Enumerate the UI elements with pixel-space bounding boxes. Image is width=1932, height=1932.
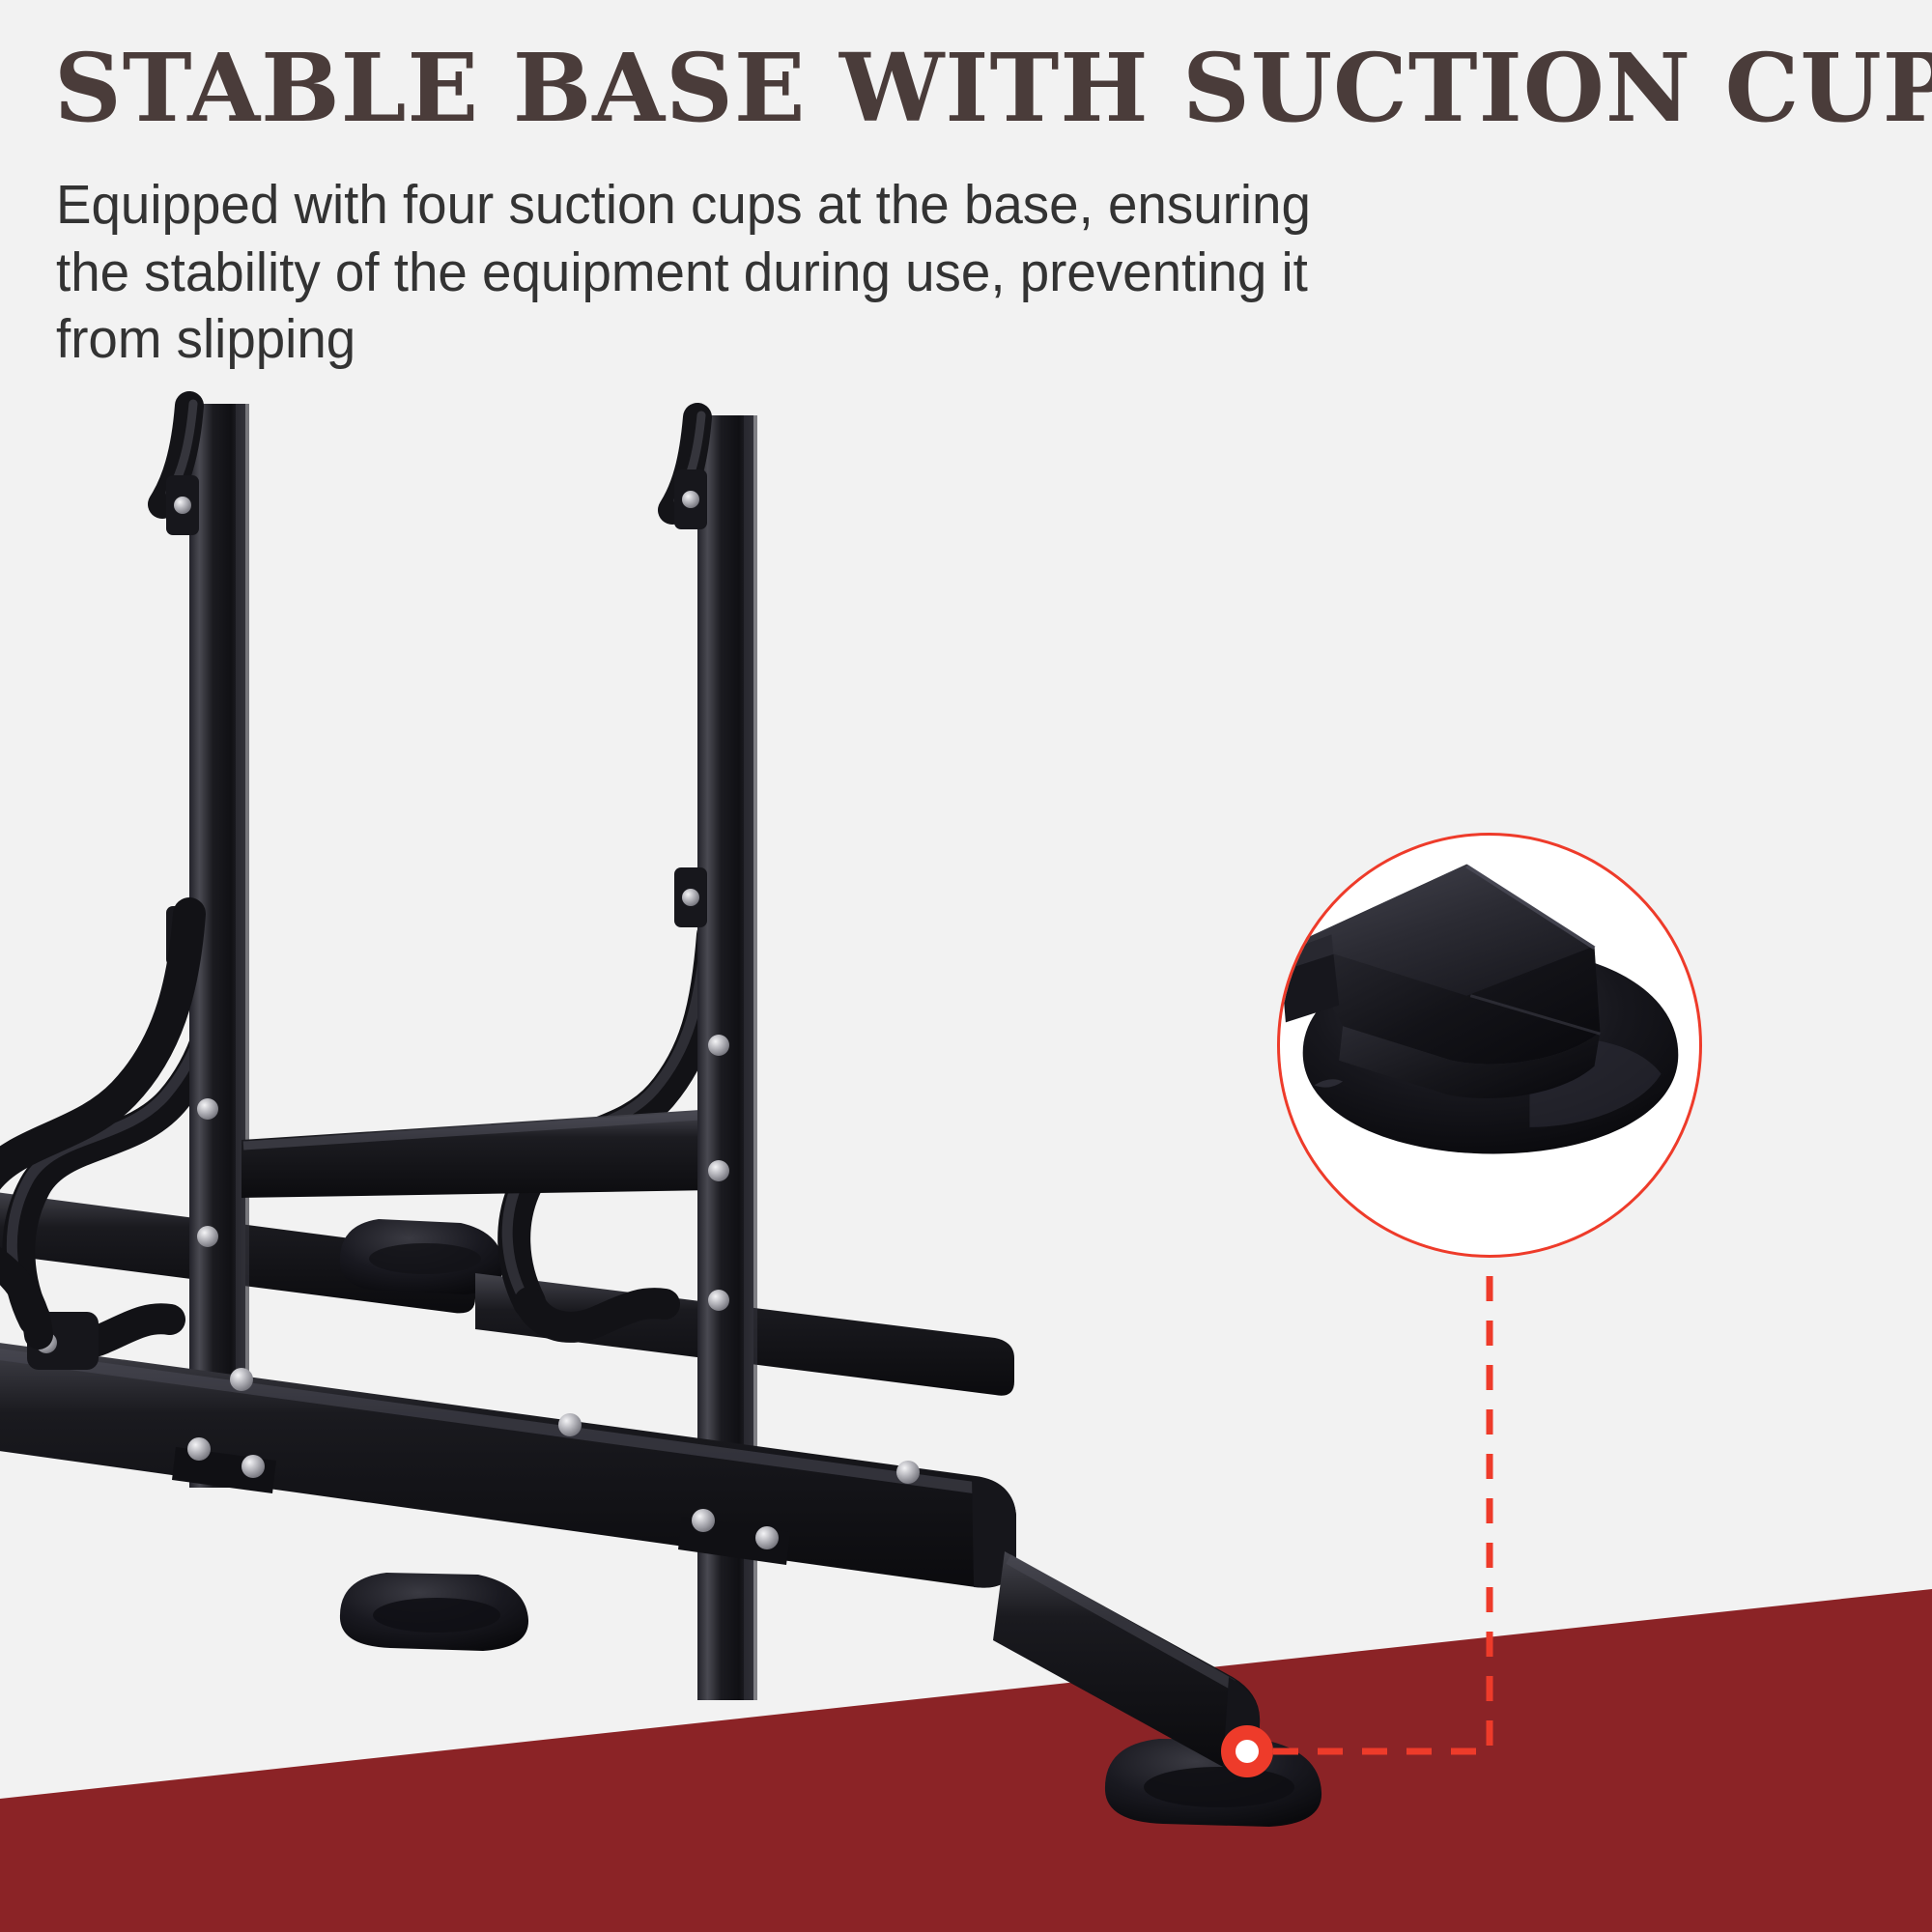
page-description: Equipped with four suction cups at the b… bbox=[56, 172, 1373, 374]
bolt bbox=[692, 1509, 715, 1532]
suction-cup-closeup-art bbox=[1280, 836, 1699, 1255]
suction-cup-callout-circle[interactable] bbox=[1277, 833, 1702, 1258]
bolt bbox=[174, 497, 191, 514]
page-title: STABLE BASE WITH SUCTION CUPS bbox=[54, 41, 1881, 136]
bolt bbox=[682, 491, 699, 508]
bolt bbox=[187, 1437, 211, 1461]
rear-base-rail bbox=[0, 1190, 503, 1313]
bolt bbox=[197, 1226, 218, 1247]
bolt bbox=[241, 1455, 265, 1478]
bolt bbox=[708, 1035, 729, 1056]
right-upper-bracket bbox=[674, 469, 707, 529]
right-lower-bracket bbox=[674, 867, 707, 927]
left-upper-bracket bbox=[166, 475, 199, 535]
suction-cup-marker-dot[interactable] bbox=[1221, 1725, 1273, 1777]
bolt bbox=[230, 1368, 253, 1391]
bolt bbox=[708, 1290, 729, 1311]
bolt bbox=[197, 1098, 218, 1120]
bolt bbox=[896, 1461, 920, 1484]
horizontal-crossbar bbox=[241, 1109, 736, 1198]
bolt bbox=[755, 1526, 779, 1549]
front-rail-right-end bbox=[993, 1551, 1260, 1770]
bolt bbox=[708, 1160, 729, 1181]
bolt bbox=[558, 1413, 582, 1436]
infographic-canvas: STABLE BASE WITH SUCTION CUPS Equipped w… bbox=[0, 0, 1932, 1932]
bolt bbox=[682, 889, 699, 906]
front-left-suction-foot bbox=[340, 1573, 528, 1651]
